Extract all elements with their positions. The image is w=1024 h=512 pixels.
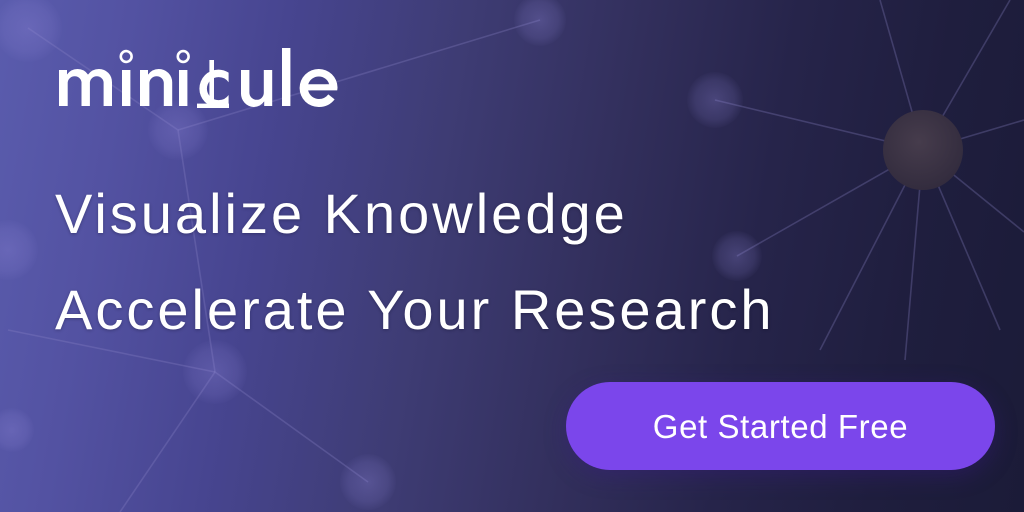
minicule-wordmark-icon xyxy=(55,46,385,108)
headline-line-1: Visualize Knowledge xyxy=(55,166,1005,262)
headline: Visualize Knowledge Accelerate Your Rese… xyxy=(55,166,1005,358)
graph-edge xyxy=(715,100,923,150)
graph-node xyxy=(0,0,62,62)
graph-edge xyxy=(215,372,368,482)
graph-edge xyxy=(923,120,1024,150)
graph-edge xyxy=(120,372,215,512)
graph-node xyxy=(687,72,743,128)
graph-edge xyxy=(923,0,1010,150)
headline-line-2: Accelerate Your Research xyxy=(55,262,1005,358)
brand-logo[interactable] xyxy=(55,44,385,110)
graph-node xyxy=(0,408,34,452)
cta-label: Get Started Free xyxy=(653,410,908,443)
graph-node xyxy=(514,0,566,46)
graph-edge xyxy=(880,0,923,150)
graph-node xyxy=(340,454,396,510)
graph-node xyxy=(0,220,38,280)
get-started-free-button[interactable]: Get Started Free xyxy=(566,382,995,470)
promo-banner: Visualize Knowledge Accelerate Your Rese… xyxy=(0,0,1024,512)
